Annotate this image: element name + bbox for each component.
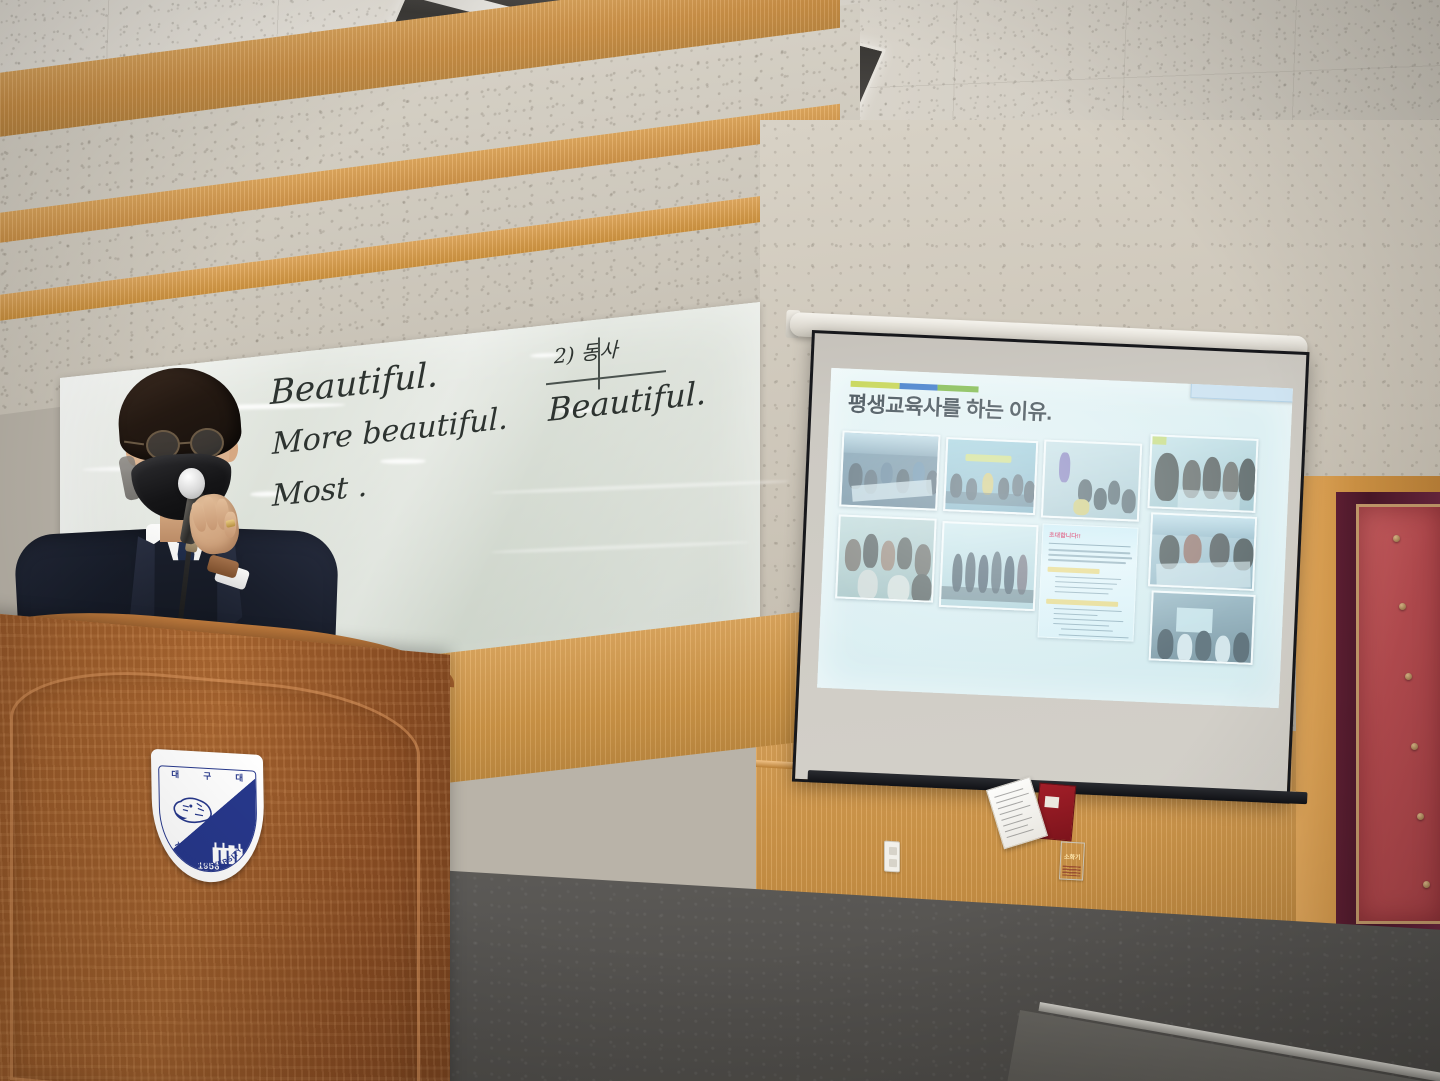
emblem-name-text: TAEGU UNIVERSITY — [172, 841, 244, 871]
fire-extinguisher-sign: 소화기 — [1059, 841, 1085, 880]
photo-paper-work — [1148, 512, 1257, 591]
emblem-university-name: TAEGU UNIVERSITY — [159, 766, 257, 873]
university-emblem: 대 구 대 1956 — [151, 749, 265, 885]
fire-extinguisher-sign-label: 소화기 — [1061, 851, 1083, 861]
photo-large-hall — [839, 430, 940, 510]
microphone-head[interactable] — [178, 468, 205, 499]
photo-standing-line — [939, 521, 1039, 611]
photo-craft-table — [835, 514, 937, 602]
slide-title: 평생교육사를 하는 이유. — [847, 388, 1148, 431]
photo-seminar-room — [943, 437, 1038, 515]
photo-lecture-room — [1149, 590, 1256, 665]
photo-group-table — [1147, 434, 1258, 513]
whiteboard-divider — [598, 337, 600, 389]
projection-screen: 평생교육사를 하는 이유. 💡 추가 기능에 액세스하려면 [도구], [서명]… — [792, 330, 1310, 804]
pdf-tooltip-text: 추가 기능에 액세스하려면 [도구], [서명] 및 [주석]을 클릭합니다. — [1213, 368, 1291, 397]
presentation-slide: 평생교육사를 하는 이유. 💡 추가 기능에 액세스하려면 [도구], [서명]… — [817, 368, 1293, 708]
power-outlet[interactable] — [884, 841, 900, 873]
poster-heading: 초대합니다!! — [1049, 530, 1081, 540]
photo-floor-activity — [1041, 439, 1142, 521]
padded-auditorium-door[interactable] — [1356, 504, 1440, 924]
svg-text:TAEGU UNIVERSITY: TAEGU UNIVERSITY — [172, 841, 244, 871]
slide-invite-poster: 초대합니다!! — [1038, 523, 1139, 641]
lightbulb-icon: 💡 — [1195, 368, 1211, 394]
lecture-hall-photo: Beautiful. More beautiful. Most . 2) 동사 … — [0, 0, 1440, 1081]
whiteboard-right-line-1: 2) 동사 — [554, 333, 618, 369]
pdf-tooltip: 💡 추가 기능에 액세스하려면 [도구], [서명] 및 [주석]을 클릭합니다… — [1190, 368, 1293, 403]
